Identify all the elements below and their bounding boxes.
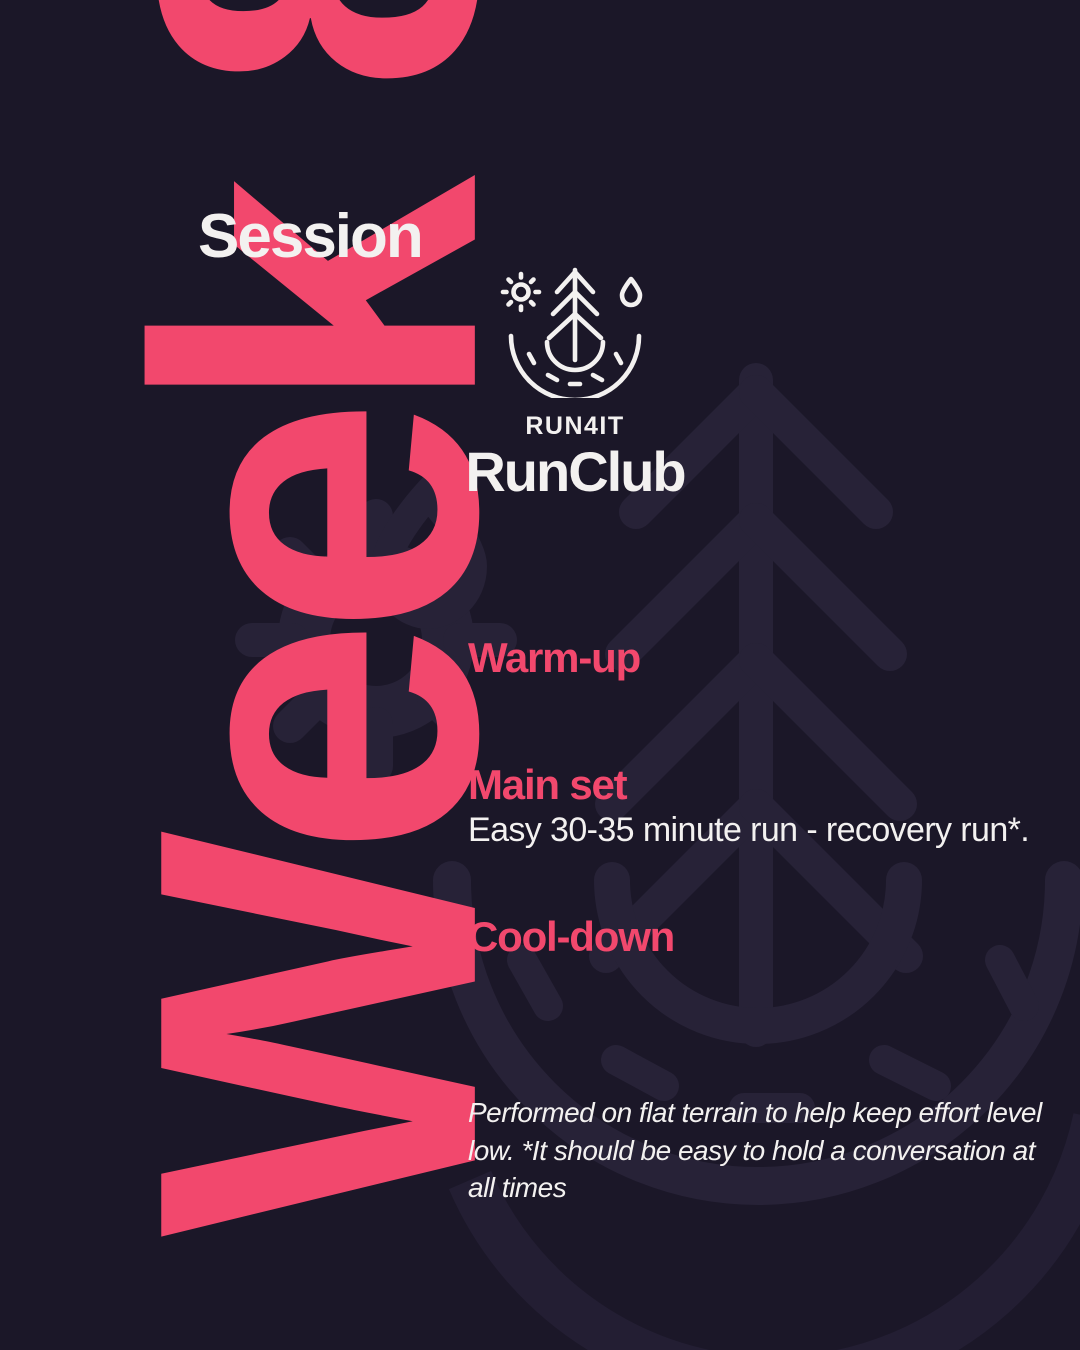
week-label: Week 8	[141, 0, 497, 1237]
session-card: Week 8 Session	[0, 0, 1080, 1350]
block-heading: Cool-down	[468, 913, 1048, 960]
run4it-logo-mark-icon	[491, 262, 659, 398]
session-block-mainset: Main set Easy 30-35 minute run - recover…	[468, 761, 1048, 851]
block-heading: Main set	[468, 761, 1048, 808]
spacer	[468, 683, 1048, 761]
week-number-vertical: Week 8	[139, 0, 499, 1211]
brand-large-label: RunClub	[465, 443, 684, 502]
footnote-text: Performed on flat terrain to help keep e…	[468, 1094, 1046, 1207]
block-body: Easy 30-35 minute run - recovery run*.	[468, 810, 1048, 851]
session-content: Warm-up Main set Easy 30-35 minute run -…	[468, 634, 1048, 962]
brand-logo: RUN4IT RunClub	[455, 262, 695, 502]
session-block-cooldown: Cool-down	[468, 913, 1048, 960]
session-block-warmup: Warm-up	[468, 634, 1048, 681]
brand-small-label: RUN4IT	[525, 414, 624, 439]
block-heading: Warm-up	[468, 634, 1048, 681]
session-label: Session	[198, 206, 422, 268]
spacer	[468, 851, 1048, 913]
